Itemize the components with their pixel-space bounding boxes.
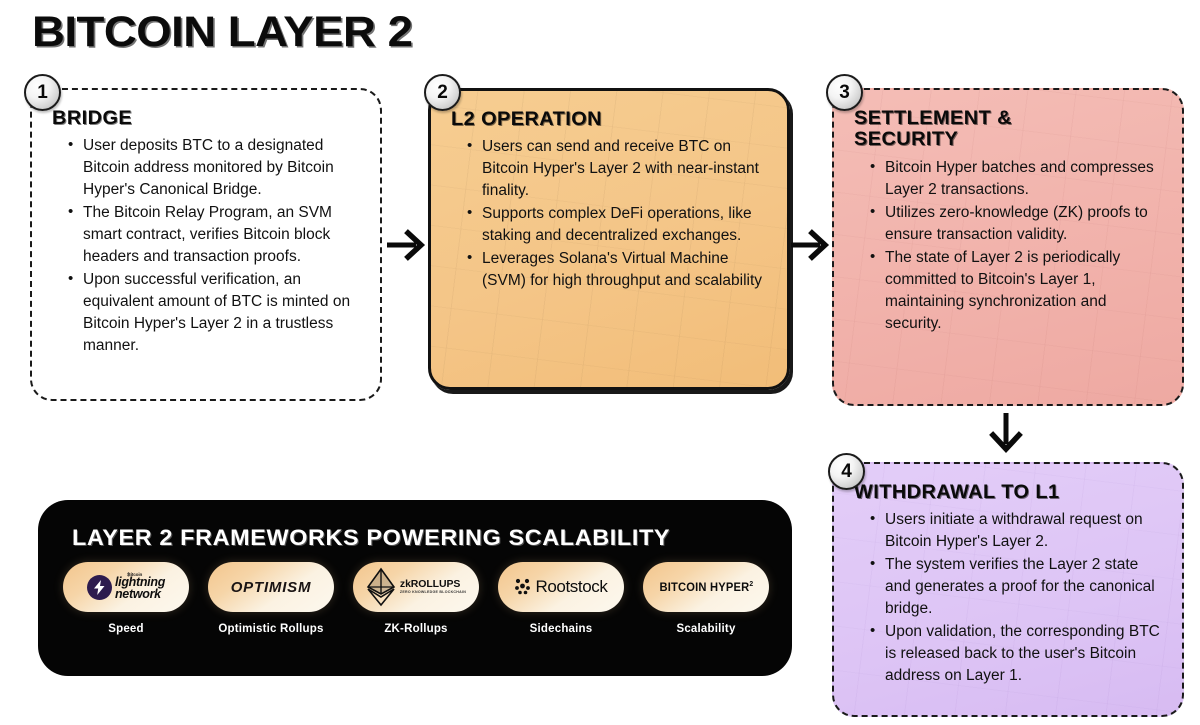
infographic-page: BITCOIN LAYER 2 BRIDGE User deposits BTC… — [0, 0, 1200, 725]
step-badge-2: 2 — [424, 74, 461, 111]
frameworks-logo-row: ₿itcoin lightning network Speed OPTIMISM… — [60, 562, 772, 635]
framework-caption: Scalability — [676, 623, 735, 635]
card-title-l2-operation: L2 OPERATION — [451, 109, 785, 130]
step-badge-1: 1 — [24, 74, 61, 111]
bullet-list-withdrawal-to-l1: Users initiate a withdrawal request on B… — [870, 509, 1164, 687]
step-card-bridge: BRIDGE User deposits BTC to a designated… — [30, 88, 382, 401]
list-item: The state of Layer 2 is periodically com… — [870, 247, 1164, 335]
lightning-bolt-icon — [87, 575, 112, 600]
rootstock-dots-icon — [515, 578, 532, 596]
step-badge-4: 4 — [828, 453, 865, 490]
card-title-withdrawal-to-l1: WITHDRAWAL TO L1 — [854, 482, 1180, 503]
arrow-down-icon — [988, 412, 1024, 454]
step-card-withdrawal-to-l1: WITHDRAWAL TO L1 Users initiate a withdr… — [832, 462, 1184, 717]
framework-item-scalability: BITCOIN HYPER2 Scalability — [640, 562, 772, 635]
framework-caption: Sidechains — [530, 623, 593, 635]
list-item: The Bitcoin Relay Program, an SVM smart … — [68, 202, 362, 268]
framework-caption: ZK-Rollups — [384, 623, 447, 635]
framework-item-speed: ₿itcoin lightning network Speed — [60, 562, 192, 635]
list-item: Upon validation, the corresponding BTC i… — [870, 621, 1164, 687]
step-badge-3: 3 — [826, 74, 863, 111]
framework-caption: Speed — [108, 623, 144, 635]
optimism-logo: OPTIMISM — [208, 562, 334, 612]
bullet-list-l2-operation: Users can send and receive BTC on Bitcoi… — [467, 136, 769, 292]
list-item: Upon successful verification, an equival… — [68, 269, 362, 357]
card-title-bridge: BRIDGE — [52, 108, 378, 129]
arrow-right-icon — [386, 228, 426, 262]
list-item: The system verifies the Layer 2 state an… — [870, 554, 1164, 620]
zkrollups-logo-text: zkROLLUPS — [400, 579, 466, 590]
lightning-logo-line2: network — [115, 589, 165, 601]
list-item: Bitcoin Hyper batches and compresses Lay… — [870, 157, 1164, 201]
card-title-settlement-security: SETTLEMENT & SECURITY — [854, 108, 1064, 151]
bolt-glyph — [93, 580, 106, 595]
bullet-list-settlement-security: Bitcoin Hyper batches and compresses Lay… — [870, 157, 1164, 335]
list-item: Supports complex DeFi operations, like s… — [467, 203, 769, 247]
ethereum-diamond-icon — [366, 567, 396, 607]
frameworks-panel: LAYER 2 FRAMEWORKS POWERING SCALABILITY … — [38, 500, 792, 676]
list-item: Users can send and receive BTC on Bitcoi… — [467, 136, 769, 202]
bullet-list-bridge: User deposits BTC to a designated Bitcoi… — [68, 135, 362, 357]
bitcoin-hyper-logo: BITCOIN HYPER2 — [643, 562, 769, 612]
rootstock-logo: Rootstock — [498, 562, 624, 612]
arrow-right-icon — [790, 228, 830, 262]
framework-caption: Optimistic Rollups — [218, 623, 323, 635]
rootstock-logo-text: Rootstock — [536, 577, 608, 597]
zkrollups-logo-subtext: ZERO KNOWLEDGE BLOCKCHAIN — [400, 591, 466, 595]
list-item: Utilizes zero-knowledge (ZK) proofs to e… — [870, 202, 1164, 246]
framework-item-optimistic-rollups: OPTIMISM Optimistic Rollups — [205, 562, 337, 635]
framework-item-sidechains: Rootstock Sidechains — [495, 562, 627, 635]
frameworks-title: LAYER 2 FRAMEWORKS POWERING SCALABILITY — [72, 525, 670, 551]
bitcoin-hyper-logo-text: BITCOIN HYPER2 — [659, 581, 753, 594]
lightning-network-logo: ₿itcoin lightning network — [63, 562, 189, 612]
list-item: User deposits BTC to a designated Bitcoi… — [68, 135, 362, 201]
step-card-l2-operation: L2 OPERATION Users can send and receive … — [428, 88, 790, 390]
zkrollups-logo: zkROLLUPS ZERO KNOWLEDGE BLOCKCHAIN — [353, 562, 479, 612]
list-item: Leverages Solana's Virtual Machine (SVM)… — [467, 248, 769, 292]
page-title: BITCOIN LAYER 2 — [32, 8, 412, 57]
list-item: Users initiate a withdrawal request on B… — [870, 509, 1164, 553]
framework-item-zk-rollups: zkROLLUPS ZERO KNOWLEDGE BLOCKCHAIN ZK-R… — [350, 562, 482, 635]
step-card-settlement-security: SETTLEMENT & SECURITY Bitcoin Hyper batc… — [832, 88, 1184, 406]
optimism-logo-text: OPTIMISM — [231, 579, 312, 596]
